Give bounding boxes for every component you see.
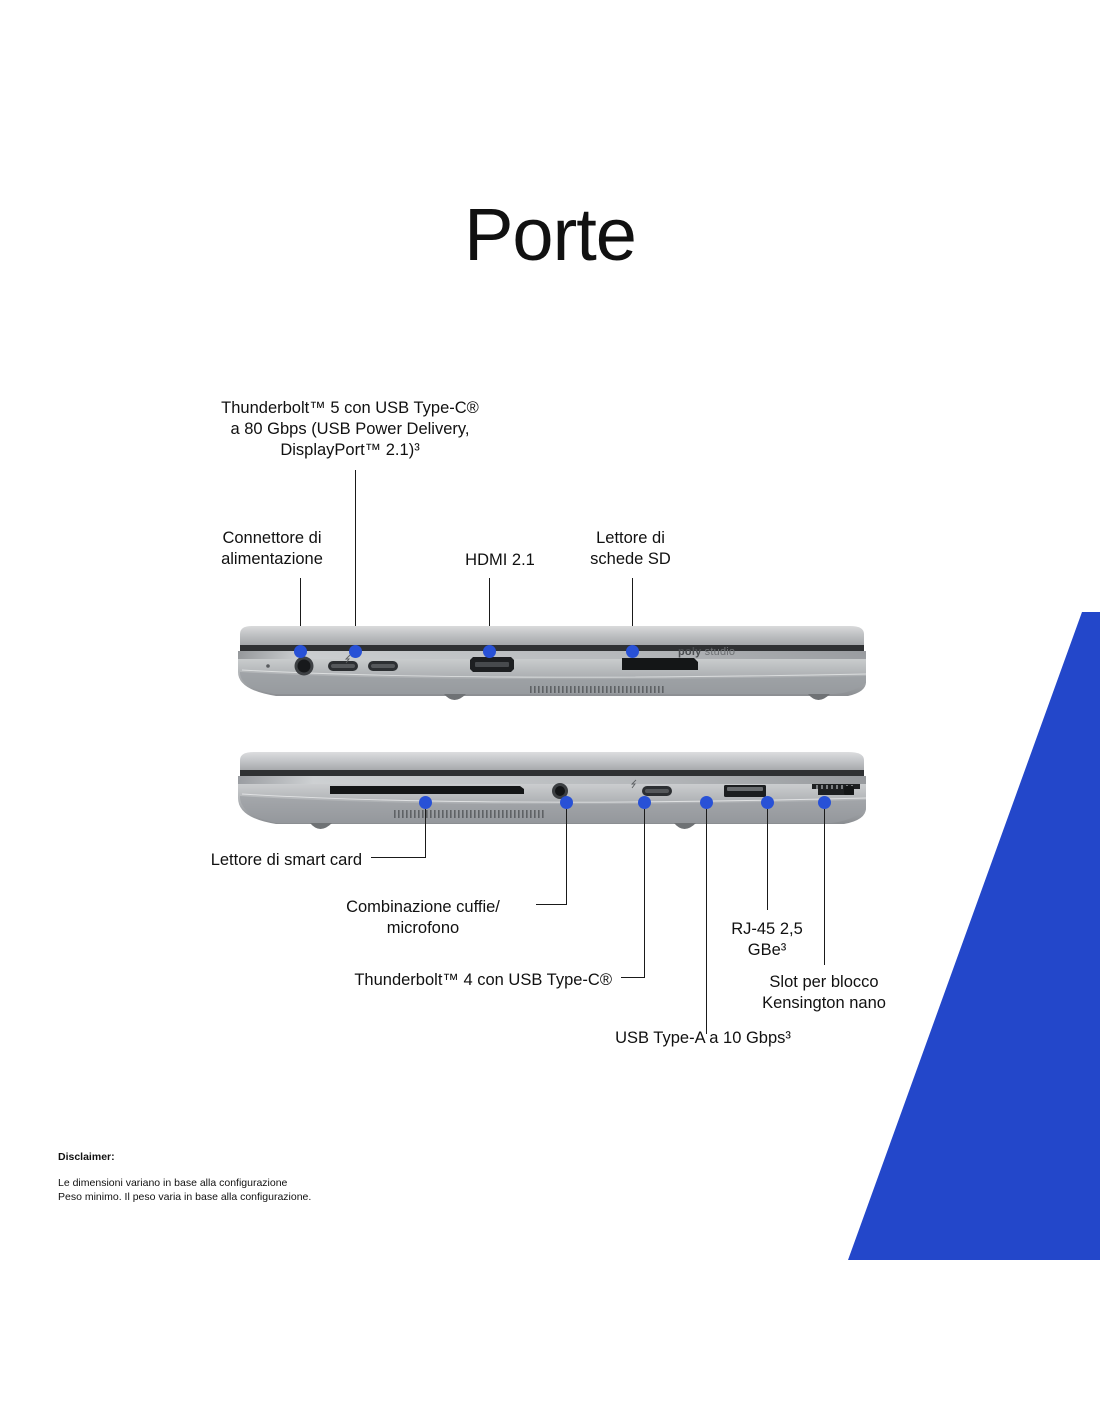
- port-dot-sd: [626, 645, 639, 658]
- leader-line-rj45: [767, 809, 768, 910]
- port-dot-usb-a: [700, 796, 713, 809]
- leader-line-audio-v: [566, 809, 567, 904]
- page-title: Porte: [0, 198, 1100, 272]
- callout-kensington: Slot per blocco Kensington nano: [728, 972, 920, 1014]
- port-dot-smart-card: [419, 796, 432, 809]
- callout-thunderbolt4: Thunderbolt™ 4 con USB Type-C®: [300, 970, 612, 991]
- callout-thunderbolt5: Thunderbolt™ 5 con USB Type-C® a 80 Gbps…: [170, 398, 530, 461]
- laptop-right-side-view: [232, 748, 872, 848]
- port-dot-thunderbolt4: [638, 796, 651, 809]
- port-dot-hdmi: [483, 645, 496, 658]
- disclaimer-body: Le dimensioni variano in base alla confi…: [58, 1176, 311, 1204]
- leader-line-thunderbolt4-v: [644, 809, 645, 977]
- port-dot-rj45: [761, 796, 774, 809]
- callout-usb-a: USB Type-A a 10 Gbps³: [598, 1028, 808, 1049]
- callout-audio-combo: Combinazione cuffie/ microfono: [318, 897, 528, 939]
- leader-line-audio-h: [536, 904, 567, 905]
- callout-smart-card: Lettore di smart card: [130, 850, 362, 871]
- port-dot-thunderbolt5: [349, 645, 362, 658]
- port-dot-kensington: [818, 796, 831, 809]
- ports-infographic-page: Porte Thunderbolt™ 5 con USB Type-C® a 8…: [0, 0, 1100, 1422]
- leader-line-smart-card-v: [425, 809, 426, 857]
- leader-line-smart-card-h: [371, 857, 426, 858]
- callout-rj45: RJ-45 2,5 GBe³: [692, 919, 842, 961]
- disclaimer-heading: Disclaimer:: [58, 1151, 115, 1163]
- port-dot-power: [294, 645, 307, 658]
- laptop-left-side-view: [232, 620, 872, 725]
- callout-sd-reader: Lettore di schede SD: [548, 528, 713, 570]
- leader-line-thunderbolt4-h: [621, 977, 645, 978]
- callout-power-connector: Connettore di alimentazione: [172, 528, 372, 570]
- poly-studio-logo: poly studio: [678, 646, 735, 658]
- port-dot-audio-jack: [560, 796, 573, 809]
